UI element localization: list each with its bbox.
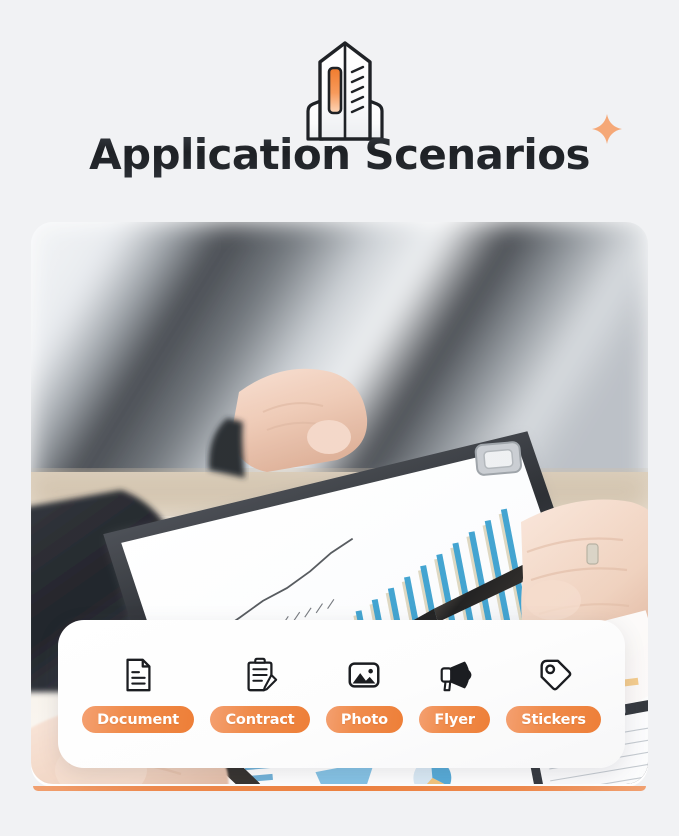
clipboard-pencil-icon — [240, 655, 280, 695]
category-card: Document Contract — [58, 620, 625, 768]
category-label-photo[interactable]: Photo — [326, 706, 403, 733]
category-item-document[interactable]: Document — [82, 655, 194, 733]
category-label-stickers[interactable]: Stickers — [506, 706, 601, 733]
category-label-flyer[interactable]: Flyer — [419, 706, 490, 733]
category-item-contract[interactable]: Contract — [210, 655, 309, 733]
page-root: Application Scenarios — [0, 0, 679, 836]
sparkle-icon — [590, 112, 624, 146]
tag-icon — [534, 655, 574, 695]
category-label-contract[interactable]: Contract — [210, 706, 309, 733]
category-item-photo[interactable]: Photo — [326, 655, 403, 733]
category-item-stickers[interactable]: Stickers — [506, 655, 601, 733]
header: Application Scenarios — [0, 0, 679, 208]
document-icon — [118, 655, 158, 695]
building-icon — [290, 38, 400, 143]
megaphone-icon — [435, 655, 475, 695]
page-title: Application Scenarios — [89, 130, 590, 179]
category-label-document[interactable]: Document — [82, 706, 194, 733]
page-title-row: Application Scenarios — [0, 130, 679, 180]
main-card: Document Contract — [31, 222, 648, 787]
image-icon — [344, 655, 384, 695]
category-item-flyer[interactable]: Flyer — [419, 655, 490, 733]
